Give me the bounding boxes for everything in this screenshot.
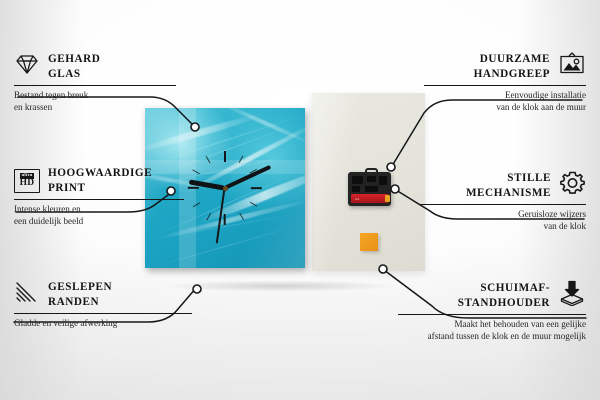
divider [424, 85, 586, 86]
divider [14, 85, 176, 86]
leader-dot-handgreep [387, 163, 395, 171]
feature-description: Intense kleuren en een duidelijk beeld [14, 203, 184, 228]
leader-dot-randen [193, 285, 201, 293]
feature-title: SCHUIMAF- STANDHOUDER [458, 281, 550, 311]
feature-duurzame-handgreep: DUURZAME HANDGREEP Eenvoudige installati… [424, 52, 586, 114]
gear-icon [559, 170, 586, 201]
ultra-hd-icon: ultra HD [14, 169, 40, 193]
infographic-canvas: AA [0, 0, 600, 400]
divider [14, 199, 184, 200]
feature-title: GEHARD GLAS [48, 52, 100, 82]
diamond-icon [14, 52, 40, 81]
divider [398, 314, 586, 315]
beveled-edge-icon [14, 280, 40, 309]
leader-dot-gehard-glas [191, 123, 199, 131]
press-down-icon [558, 280, 586, 311]
feature-title: STILLE MECHANISME [466, 171, 551, 201]
feature-geslepen-randen: GESLEPEN RANDEN Gladde en veilige afwerk… [14, 280, 192, 329]
feature-title: DUURZAME HANDGREEP [474, 52, 550, 82]
feature-description: Gladde en veilige afwerking [14, 317, 192, 329]
feature-description: Maakt het behouden van een gelijke afsta… [398, 318, 586, 343]
feature-title: GESLEPEN RANDEN [48, 280, 112, 310]
divider [14, 313, 192, 314]
ultra-hd-large-text: HD [20, 179, 35, 189]
divider [420, 204, 586, 205]
leader-dot-standhouder [379, 265, 387, 273]
feature-description: Eenvoudige installatie van de klok aan d… [424, 89, 586, 114]
feature-title: HOOGWAARDIGE PRINT [48, 166, 152, 196]
feature-hoogwaardige-print: ultra HD HOOGWAARDIGE PRINT Intense kleu… [14, 166, 184, 227]
framed-picture-icon [558, 52, 586, 82]
feature-stille-mechanisme: STILLE MECHANISME Geruisloze wijzers van… [420, 170, 586, 233]
feature-description: Bestand tegen breuk en krassen [14, 89, 176, 114]
feature-schuimafstandhouder: SCHUIMAF- STANDHOUDER Maakt het behouden… [398, 280, 586, 343]
leader-dot-mechanisme [391, 185, 399, 193]
feature-gehard-glas: GEHARD GLAS Bestand tegen breuk en krass… [14, 52, 176, 113]
feature-description: Geruisloze wijzers van de klok [420, 208, 586, 233]
